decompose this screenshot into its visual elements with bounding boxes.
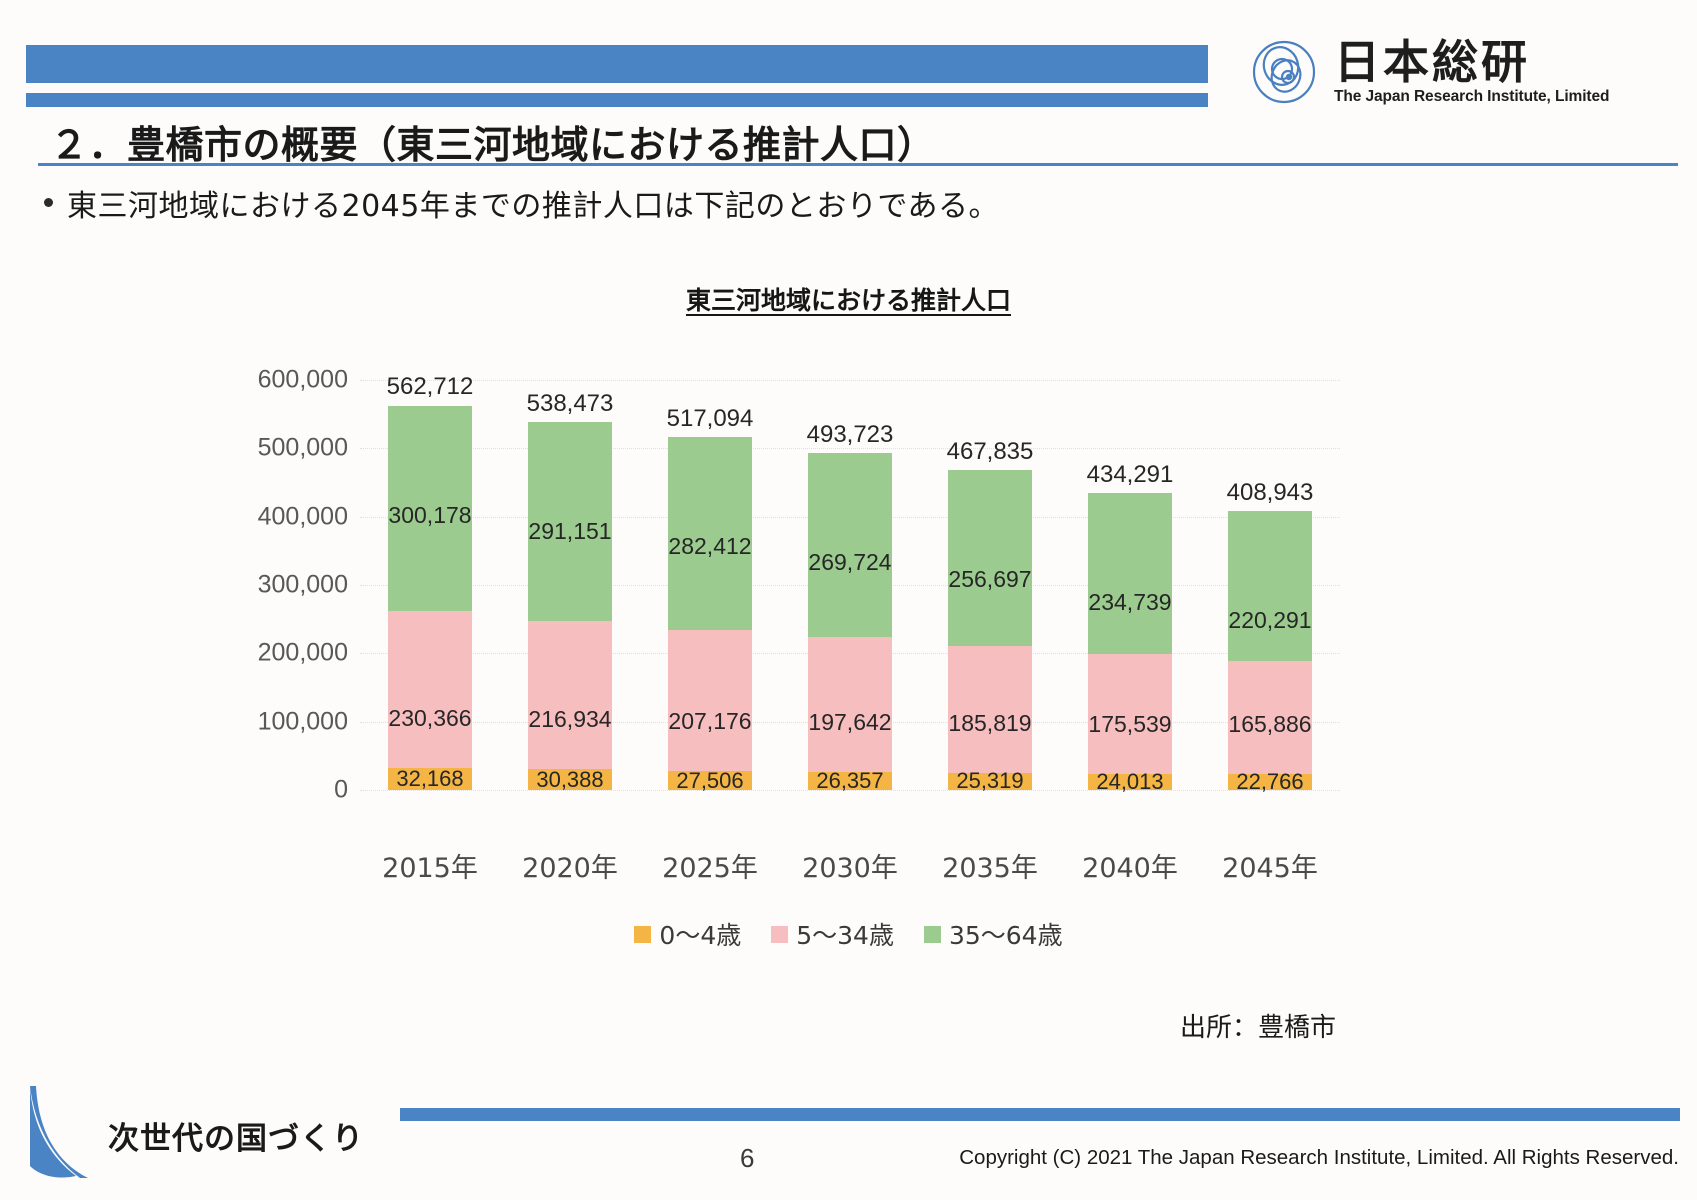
x-axis-labels: 2015年2020年2025年2030年2035年2040年2045年 [360, 846, 1340, 885]
stacked-bar-chart: 600,000500,000400,000300,000200,000100,0… [248, 380, 1348, 800]
bar-segment-label: 282,412 [668, 533, 751, 560]
bar-segment-35-64: 291,151 [528, 422, 612, 621]
legend-swatch-icon [924, 926, 941, 943]
bar-total-label: 467,835 [947, 438, 1034, 466]
bar-segment-5-34: 230,366 [388, 611, 472, 768]
bar-segment-0-4: 30,388 [528, 769, 612, 790]
bar-segment-5-34: 216,934 [528, 621, 612, 769]
source-note: 出所：豊橋市 [1180, 1007, 1336, 1044]
bar-segment-label: 30,388 [536, 767, 603, 793]
bar-stack: 467,835256,697185,81925,319 [948, 470, 1032, 790]
bar-segment-0-4: 25,319 [948, 773, 1032, 790]
bullet-dot-icon [44, 198, 53, 207]
x-axis-tick-label: 2035年 [920, 846, 1060, 885]
bar-segment-35-64: 269,724 [808, 453, 892, 637]
bar-segment-0-4: 26,357 [808, 772, 892, 790]
y-axis-tick-label: 200,000 [258, 639, 348, 668]
x-axis-tick-label: 2040年 [1060, 846, 1200, 885]
slide: 日本総研 The Japan Research Institute, Limit… [0, 0, 1697, 1200]
x-axis-tick-label: 2030年 [780, 846, 920, 885]
bar-series: 562,712300,178230,36632,168538,473291,15… [360, 380, 1340, 790]
y-axis-tick-label: 300,000 [258, 571, 348, 600]
bar-segment-label: 234,739 [1088, 589, 1171, 616]
bar-segment-0-4: 32,168 [388, 768, 472, 790]
bar-total-label: 538,473 [527, 390, 614, 418]
chart-title: 東三河地域における推計人口 [0, 281, 1697, 317]
x-axis-tick-label: 2025年 [640, 846, 780, 885]
bar-segment-5-34: 197,642 [808, 637, 892, 772]
bar-stack: 517,094282,412207,17627,506 [668, 437, 752, 790]
bar-segment-label: 220,291 [1228, 607, 1311, 634]
bar-total-label: 408,943 [1227, 479, 1314, 507]
legend-item[interactable]: 0〜4歳 [634, 916, 741, 952]
y-axis-tick-label: 600,000 [258, 366, 348, 395]
bar-segment-label: 175,539 [1088, 711, 1171, 738]
bar-segment-0-4: 22,766 [1228, 774, 1312, 790]
x-axis-tick-label: 2020年 [500, 846, 640, 885]
logo-english-name: The Japan Research Institute, Limited [1334, 88, 1609, 106]
bar-column: 434,291234,739175,53924,013 [1060, 380, 1200, 790]
legend-swatch-icon [634, 926, 651, 943]
bar-segment-label: 27,506 [676, 768, 743, 794]
logo-japanese-name: 日本総研 [1334, 38, 1609, 86]
x-axis-tick-label: 2045年 [1200, 846, 1340, 885]
bar-segment-label: 291,151 [528, 518, 611, 545]
y-axis-tick-label: 0 [334, 776, 348, 805]
chart-legend: 0〜4歳5〜34歳35〜64歳 [0, 916, 1697, 952]
bar-segment-label: 165,886 [1228, 711, 1311, 738]
bar-segment-35-64: 282,412 [668, 437, 752, 630]
header-accent-bar-top [26, 45, 1208, 83]
y-axis-tick-label: 400,000 [258, 502, 348, 531]
bullet-item: 東三河地域における2045年までの推計人口は下記のとおりである。 [44, 181, 999, 225]
header-accent-bar-bottom [26, 93, 1208, 107]
bar-segment-0-4: 27,506 [668, 771, 752, 790]
bar-stack: 408,943220,291165,88622,766 [1228, 511, 1312, 790]
bar-segment-label: 26,357 [816, 768, 883, 794]
jri-spiral-logo-icon [1248, 36, 1320, 108]
company-logo: 日本総研 The Japan Research Institute, Limit… [1248, 32, 1688, 112]
bar-segment-label: 256,697 [948, 566, 1031, 593]
page-title: ２．豊橋市の概要（東三河地域における推計人口） [50, 114, 936, 169]
page-number: 6 [740, 1143, 754, 1174]
bar-stack: 562,712300,178230,36632,168 [388, 406, 472, 790]
bar-total-label: 562,712 [387, 373, 474, 401]
bar-stack: 538,473291,151216,93430,388 [528, 422, 612, 790]
x-axis-tick-label: 2015年 [360, 846, 500, 885]
bar-segment-35-64: 300,178 [388, 406, 472, 611]
y-axis-labels: 600,000500,000400,000300,000200,000100,0… [248, 380, 348, 790]
bar-segment-label: 22,766 [1236, 769, 1303, 795]
legend-label: 5〜34歳 [796, 916, 894, 952]
y-axis-tick-label: 500,000 [258, 434, 348, 463]
bar-segment-label: 25,319 [956, 768, 1023, 794]
bar-column: 493,723269,724197,64226,357 [780, 380, 920, 790]
bar-column: 538,473291,151216,93430,388 [500, 380, 640, 790]
bar-total-label: 493,723 [807, 421, 894, 449]
legend-swatch-icon [771, 926, 788, 943]
bar-stack: 493,723269,724197,64226,357 [808, 453, 892, 790]
bar-segment-5-34: 185,819 [948, 646, 1032, 773]
bar-column: 408,943220,291165,88622,766 [1200, 380, 1340, 790]
plot-area: 562,712300,178230,36632,168538,473291,15… [360, 380, 1340, 790]
legend-label: 35〜64歳 [949, 916, 1063, 952]
bar-stack: 434,291234,739175,53924,013 [1088, 493, 1172, 790]
title-divider [38, 163, 1678, 166]
bar-segment-label: 216,934 [528, 706, 611, 733]
bar-column: 517,094282,412207,17627,506 [640, 380, 780, 790]
bar-segment-label: 269,724 [808, 549, 891, 576]
copyright-text: Copyright (C) 2021 The Japan Research In… [959, 1146, 1679, 1170]
bar-segment-label: 24,013 [1096, 769, 1163, 795]
bar-column: 562,712300,178230,36632,168 [360, 380, 500, 790]
bar-segment-label: 207,176 [668, 708, 751, 735]
bar-segment-0-4: 24,013 [1088, 774, 1172, 790]
bar-segment-5-34: 165,886 [1228, 661, 1312, 774]
y-axis-tick-label: 100,000 [258, 707, 348, 736]
bar-segment-5-34: 207,176 [668, 630, 752, 772]
bar-column: 467,835256,697185,81925,319 [920, 380, 1060, 790]
bar-segment-label: 32,168 [396, 766, 463, 792]
bar-segment-35-64: 234,739 [1088, 493, 1172, 653]
bar-segment-label: 197,642 [808, 709, 891, 736]
bullet-text: 東三河地域における2045年までの推計人口は下記のとおりである。 [67, 181, 999, 225]
bar-total-label: 434,291 [1087, 461, 1174, 489]
bar-segment-label: 230,366 [388, 705, 471, 732]
bar-total-label: 517,094 [667, 405, 754, 433]
bar-segment-35-64: 256,697 [948, 470, 1032, 645]
legend-label: 0〜4歳 [659, 916, 741, 952]
bar-segment-5-34: 175,539 [1088, 654, 1172, 774]
legend-item[interactable]: 5〜34歳 [771, 916, 894, 952]
footer-accent-bar [400, 1108, 1680, 1121]
legend-item[interactable]: 35〜64歳 [924, 916, 1063, 952]
bar-segment-label: 300,178 [388, 502, 471, 529]
footer-tagline: 次世代の国づくり [108, 1113, 364, 1158]
bar-segment-label: 185,819 [948, 710, 1031, 737]
bar-segment-35-64: 220,291 [1228, 511, 1312, 662]
